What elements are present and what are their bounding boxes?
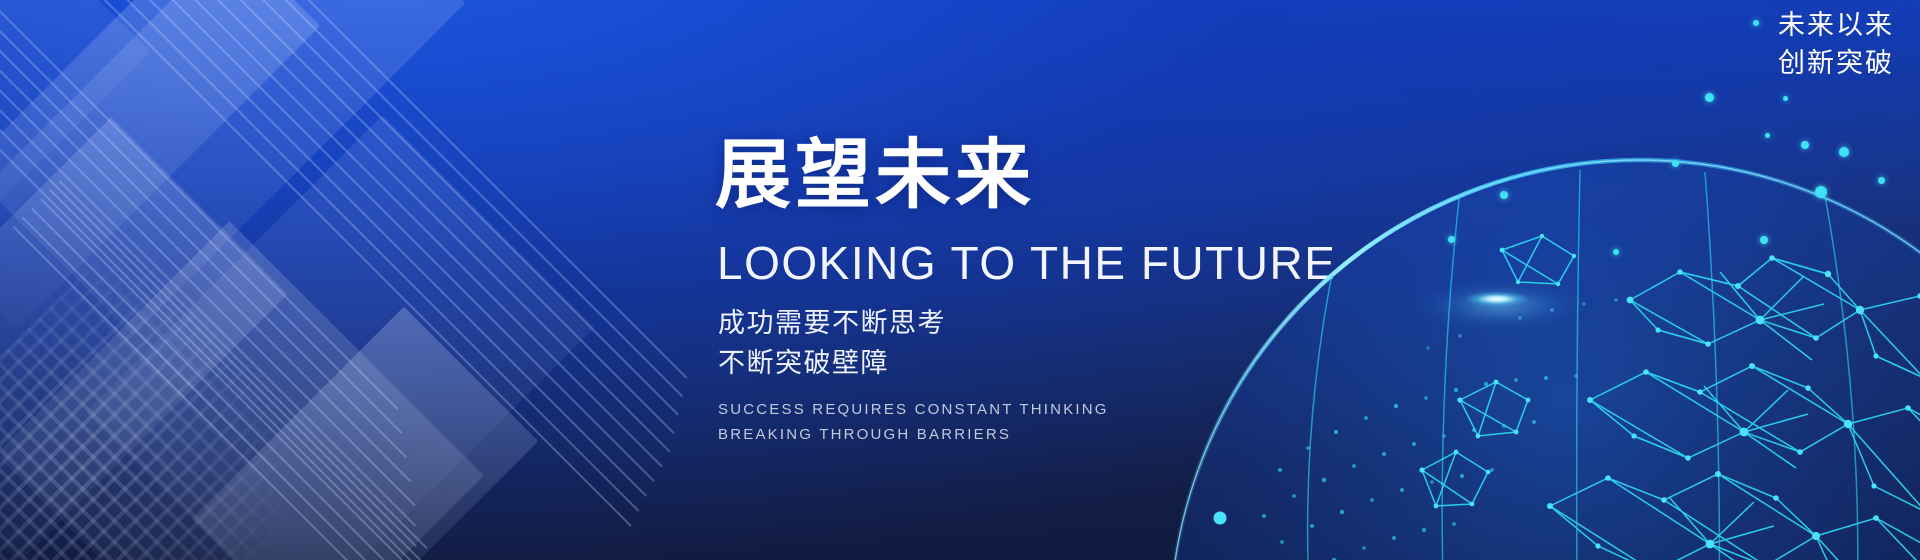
sparkle-dot xyxy=(1878,177,1885,184)
sparkle-dot xyxy=(1783,96,1788,101)
globe-sphere xyxy=(1170,160,1920,560)
globe-svg xyxy=(1160,0,1920,560)
sparkle-dot xyxy=(1448,236,1455,243)
sparkle-dot xyxy=(1705,93,1714,102)
sparkle-dot xyxy=(1613,249,1619,255)
sparkle-dot xyxy=(1760,236,1768,244)
sparkle-dot xyxy=(1801,141,1809,149)
network-globe-graphic xyxy=(1160,0,1920,560)
sparkle-dot xyxy=(1839,147,1849,157)
sparkle-dot xyxy=(1765,133,1770,138)
sparkle-dot xyxy=(1753,20,1759,26)
hero-banner: 展望未来 LOOKING TO THE FUTURE 成功需要不断思考 不断突破… xyxy=(0,0,1920,560)
sparkle-dot xyxy=(1815,186,1827,198)
sparkle-dot xyxy=(1672,160,1679,167)
left-decorative-artwork xyxy=(0,0,760,560)
sparkle-dot xyxy=(1500,191,1508,199)
